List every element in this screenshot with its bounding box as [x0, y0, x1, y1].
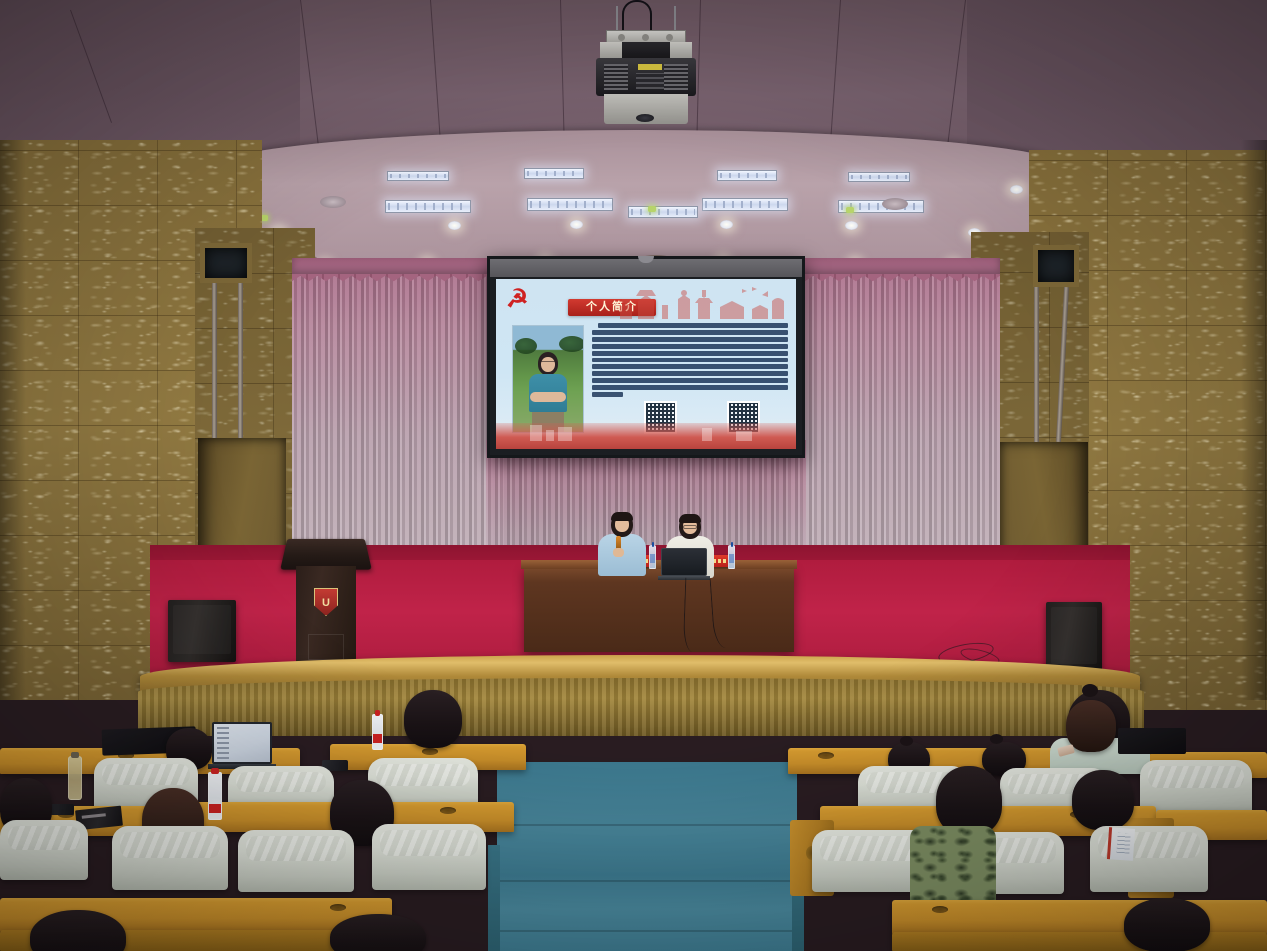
presenter-laptop[interactable]	[661, 548, 707, 576]
thermos-flask	[68, 756, 82, 800]
laptop-screen	[661, 548, 707, 576]
aisle-step	[497, 824, 797, 826]
fluorescent-light-panel	[387, 171, 449, 181]
floor-cable	[683, 578, 710, 653]
aisle-side-left	[488, 845, 500, 951]
chair-r2-2	[112, 826, 228, 890]
wall-shadow-right	[1241, 140, 1267, 700]
desk-cable-hole	[330, 904, 346, 911]
projector-label	[638, 64, 662, 70]
stage-person-left	[594, 512, 650, 568]
slide-text-line	[598, 323, 788, 328]
ceiling-seam	[300, 0, 319, 149]
control-room-window-left	[200, 243, 252, 283]
lecture-hall-photo: ☭ 个人简介	[0, 0, 1267, 951]
wall-conduit-pipe	[212, 283, 217, 443]
slide-text-line	[592, 351, 788, 356]
wall-conduit-pipe	[238, 283, 243, 443]
ceiling-vent	[882, 198, 908, 210]
slide-text-line	[592, 364, 788, 369]
ceiling-indicator-light	[846, 207, 854, 213]
desk-row3-right	[892, 900, 1267, 934]
slide-text-line	[592, 371, 788, 376]
mount-bolt	[618, 34, 625, 41]
speaker-portrait-photo	[512, 325, 584, 433]
projector-lens	[636, 114, 654, 122]
mount-bolt	[642, 34, 649, 41]
slide-body-text	[592, 323, 788, 397]
water-bottle-right	[728, 545, 735, 569]
cpc-emblem-icon: ☭	[506, 287, 532, 313]
lectern	[290, 536, 362, 666]
desk-row3-right-foot	[892, 932, 1267, 951]
slide-footer-band	[496, 423, 796, 449]
chair-r2-1	[0, 820, 88, 880]
projection-screen: ☭ 个人简介	[487, 256, 805, 458]
person-fringe	[611, 512, 633, 521]
aisle-step	[497, 880, 797, 882]
slide-text-line	[592, 358, 788, 363]
footer-building-icon	[530, 425, 542, 441]
fluorescent-light-panel	[628, 206, 698, 218]
hair-bun-r1-e	[990, 734, 1003, 744]
mount-bolt	[666, 34, 673, 41]
audience-head-r1-f	[1066, 700, 1116, 752]
fluorescent-light-panel	[385, 200, 471, 213]
tree-decoration-icon	[559, 336, 584, 352]
stage-front-panel	[138, 678, 1144, 736]
fluorescent-light-panel	[848, 172, 910, 182]
ceiling-vent	[320, 196, 346, 208]
fluorescent-light-panel	[702, 198, 788, 211]
ceiling-downlight	[1010, 185, 1023, 194]
footer-building-icon	[736, 431, 752, 441]
lectern-body	[296, 566, 356, 666]
curtain-valance-left	[292, 258, 504, 276]
glasses-icon	[683, 525, 697, 529]
projector-cable	[622, 0, 652, 34]
ceiling-downlight	[570, 220, 583, 229]
center-aisle	[497, 762, 797, 951]
water-bottle-row1	[372, 714, 383, 750]
footer-building-icon	[558, 427, 572, 441]
audience-head-r3-c	[1124, 898, 1210, 951]
ceiling-right-band	[967, 0, 1267, 160]
camo-shirt-person	[910, 826, 996, 900]
footer-building-icon	[702, 428, 712, 441]
hair-bun-r1-d	[900, 736, 913, 746]
slide-text-line	[592, 330, 788, 335]
chair-r1-6	[1140, 760, 1252, 814]
ceiling-downlight	[720, 220, 733, 229]
ceiling-left-band	[0, 0, 300, 150]
slide-text-line	[592, 378, 788, 383]
portrait-arms	[530, 392, 566, 402]
slide-text-line	[592, 337, 788, 342]
tree-decoration-icon	[515, 338, 537, 354]
desk-cable-hole	[440, 807, 456, 814]
water-bottle-left	[649, 545, 656, 569]
stage-speaker-left	[168, 600, 236, 662]
ceiling-downlight	[845, 221, 858, 230]
chair-r2-4	[372, 824, 486, 890]
ceiling-seam	[430, 0, 441, 150]
presentation-slide: ☭ 个人简介	[496, 279, 796, 449]
notebook-in-hand[interactable]	[1107, 827, 1135, 861]
ceiling-seam	[560, 0, 565, 150]
person-hand	[613, 548, 624, 557]
glasses-icon	[541, 361, 555, 365]
footer-building-icon	[546, 430, 554, 441]
wall-shadow-left	[0, 140, 26, 700]
jacket-on-desk-right	[1118, 728, 1186, 754]
projector-controls	[636, 73, 664, 89]
head-table-surface	[521, 560, 797, 569]
audience-head-r2-d	[1072, 770, 1134, 830]
fluorescent-light-panel	[717, 170, 777, 181]
lectern-panel	[308, 634, 344, 660]
person-fringe	[679, 514, 701, 523]
aisle-step	[497, 930, 797, 932]
ceiling-mounted-projector	[592, 0, 700, 128]
desk-cable-hole	[422, 748, 438, 755]
ceiling-indicator-light	[648, 206, 656, 212]
audience-laptop-row1[interactable]	[212, 722, 272, 764]
screen-roller-housing	[490, 259, 802, 277]
slide-text-line	[592, 385, 788, 390]
chair-r2-3	[238, 830, 354, 892]
university-crest-icon	[314, 588, 338, 616]
hair-bun-r1	[1082, 684, 1098, 697]
desk-cable-hole	[818, 752, 834, 759]
ceiling-seam	[830, 0, 841, 150]
control-room-window-right	[1033, 245, 1079, 287]
audience-head-r3-b	[330, 914, 426, 951]
chinese-landmarks-illustration	[612, 281, 792, 321]
ceiling-downlight	[448, 221, 461, 230]
stage-speaker-right	[1046, 602, 1102, 672]
desk-cable-hole	[932, 906, 948, 913]
audience-head-r1-b	[404, 690, 462, 748]
slide-text-line	[592, 344, 788, 349]
projector-vent-left	[604, 64, 628, 90]
curtain-valance-right	[788, 258, 1000, 276]
ceiling-seam	[947, 0, 966, 149]
slide-text-line-last	[592, 392, 623, 397]
projector-vent-right	[664, 64, 688, 90]
water-bottle-r2	[208, 772, 222, 820]
fluorescent-light-panel	[524, 168, 584, 179]
wall-conduit-pipe	[1034, 287, 1039, 442]
laptop-lid	[212, 722, 272, 764]
fluorescent-light-panel	[527, 198, 613, 211]
